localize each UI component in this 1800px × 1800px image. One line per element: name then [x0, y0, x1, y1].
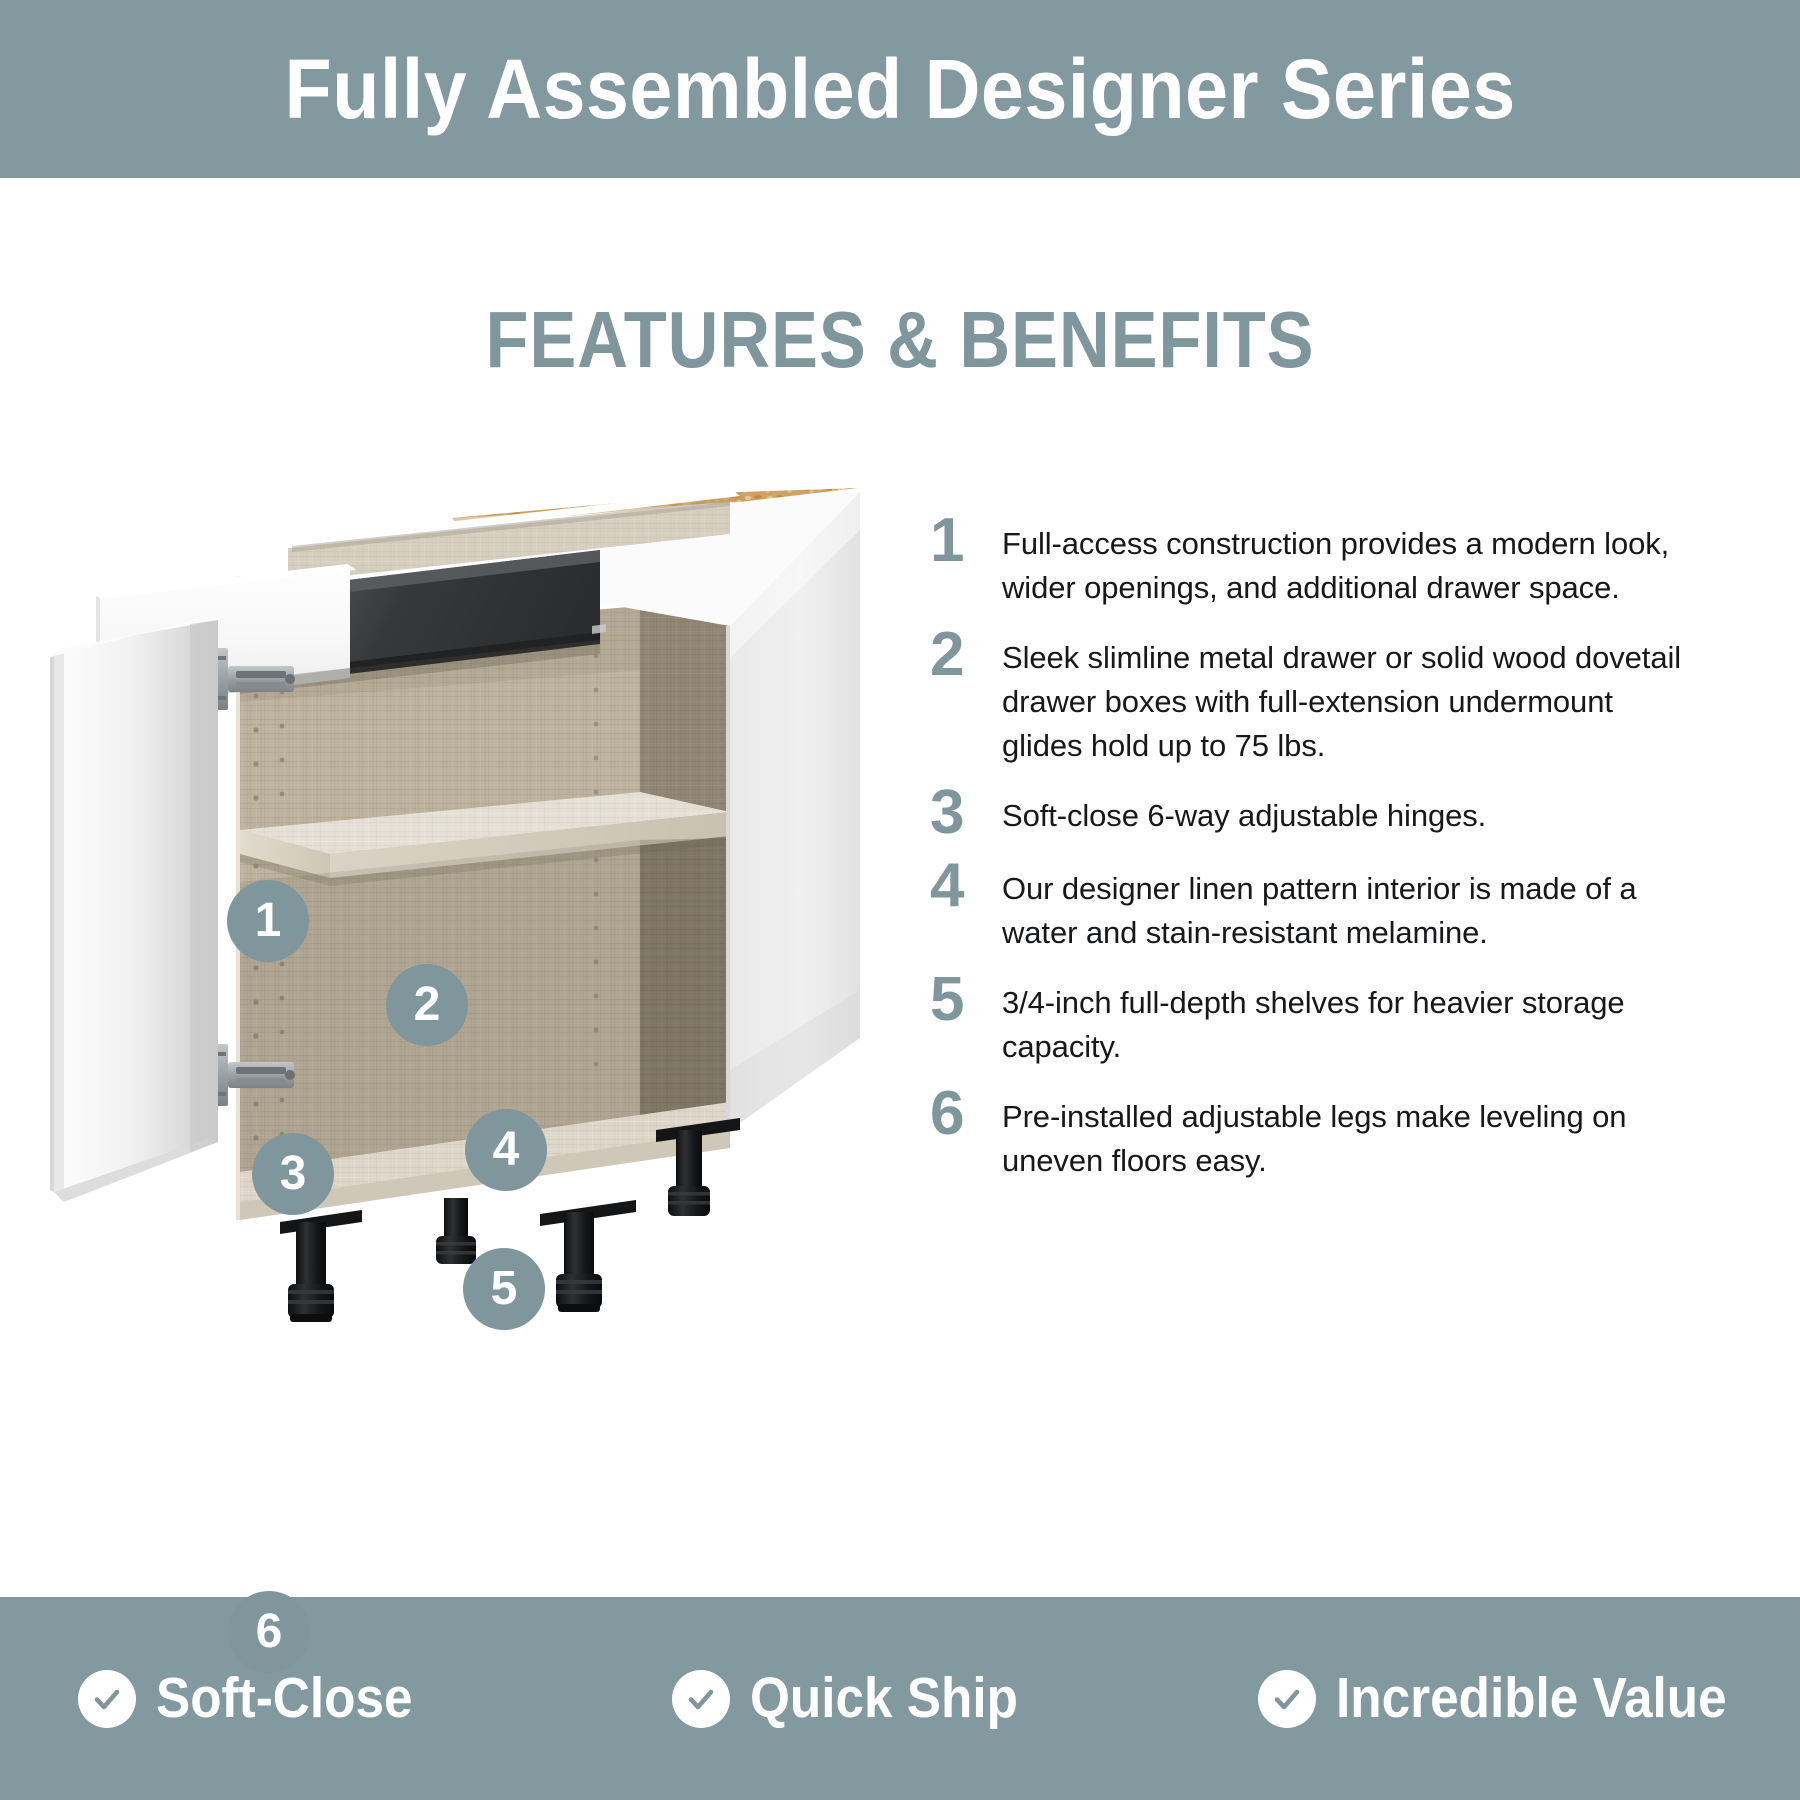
footer-label: Soft-Close [156, 1670, 413, 1727]
feature-item: 6 Pre-installed adjustable legs make lev… [930, 1083, 1690, 1183]
callout-badge-2: 2 [386, 964, 468, 1046]
feature-number: 1 [930, 510, 1002, 569]
footer-badge-soft-close: Soft-Close [78, 1670, 441, 1728]
footer-badge-incredible-value: Incredible Value [1258, 1670, 1770, 1728]
feature-description: Pre-installed adjustable legs make level… [1002, 1083, 1690, 1183]
feature-number: 4 [930, 855, 1002, 914]
infographic-page: Fully Assembled Designer Series FEATURES… [0, 0, 1800, 1800]
callout-badge-3: 3 [252, 1133, 334, 1215]
adjustable-leg [280, 1210, 362, 1322]
check-circle-icon [78, 1670, 136, 1728]
feature-item: 3 Soft-close 6-way adjustable hinges. [930, 782, 1690, 841]
feature-number: 6 [930, 1083, 1002, 1142]
check-circle-icon [672, 1670, 730, 1728]
feature-description: Soft-close 6-way adjustable hinges. [1002, 782, 1690, 838]
adjustable-leg [436, 1198, 476, 1264]
callout-badge-4: 4 [465, 1109, 547, 1191]
feature-description: Full-access construction provides a mode… [1002, 510, 1690, 610]
feature-description: 3/4-inch full-depth shelves for heavier … [1002, 969, 1690, 1069]
feature-number: 2 [930, 624, 1002, 683]
feature-item: 4 Our designer linen pattern interior is… [930, 855, 1690, 955]
callout-badge-1: 1 [227, 880, 309, 962]
feature-item: 5 3/4-inch full-depth shelves for heavie… [930, 969, 1690, 1069]
page-title: Fully Assembled Designer Series [284, 47, 1515, 131]
feature-number: 5 [930, 969, 1002, 1028]
footer-badge-quick-ship: Quick Ship [672, 1670, 1048, 1728]
callout-badge-6: 6 [228, 1591, 310, 1673]
adjustable-leg [540, 1200, 636, 1312]
footer-label: Quick Ship [750, 1670, 1018, 1727]
feature-item: 2 Sleek slimline metal drawer or solid w… [930, 624, 1690, 768]
feature-description: Sleek slimline metal drawer or solid woo… [1002, 624, 1690, 768]
callout-badge-5: 5 [463, 1248, 545, 1330]
features-list: 1 Full-access construction provides a mo… [930, 510, 1690, 1197]
feature-number: 3 [930, 782, 1002, 841]
header-bar: Fully Assembled Designer Series [0, 0, 1800, 178]
check-circle-icon [1258, 1670, 1316, 1728]
footer-label: Incredible Value [1336, 1670, 1727, 1727]
cabinet-door [50, 616, 218, 1202]
section-heading: FEATURES & BENEFITS [108, 300, 1692, 380]
product-image: 1 2 3 4 5 6 [40, 430, 900, 1370]
feature-item: 1 Full-access construction provides a mo… [930, 510, 1690, 610]
feature-description: Our designer linen pattern interior is m… [1002, 855, 1690, 955]
